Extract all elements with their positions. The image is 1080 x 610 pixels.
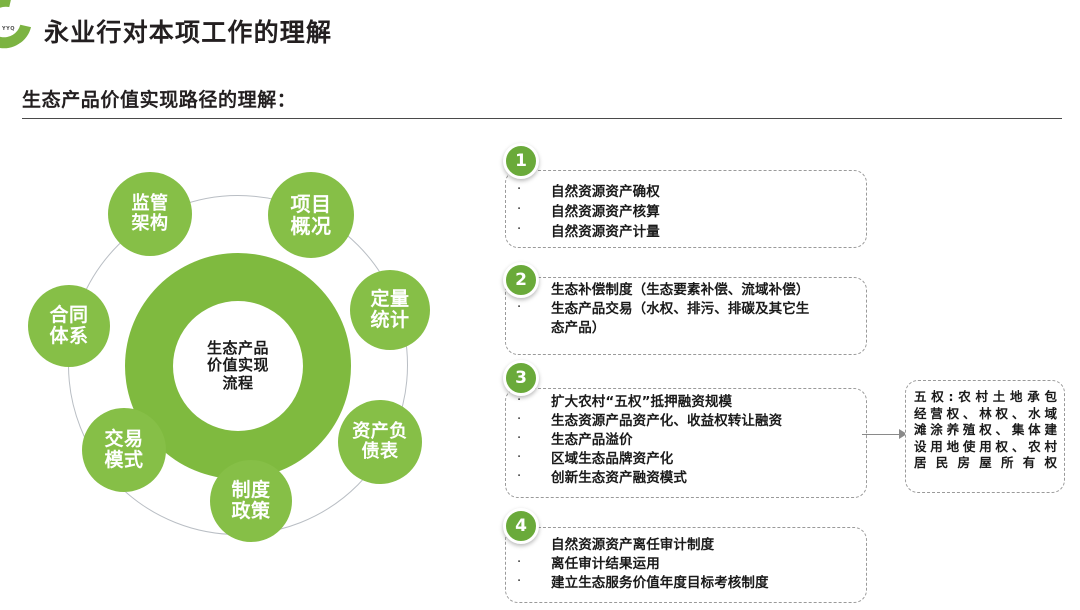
- brand-logo-subtext: YYQ: [2, 26, 15, 32]
- step-bullet-item: ·生态产品溢价: [513, 431, 859, 450]
- step-bullet-list: ·生态补偿制度（生态要素补偿、流域补偿）·生态产品交易（水权、排污、排碳及其它生…: [513, 281, 859, 338]
- step-number-badge[interactable]: 4: [503, 508, 539, 544]
- side-note-box: 五权:农村土地承包 经营权、林权、水域 滩涂养殖权、集体建 设用地使用权、农村 …: [905, 380, 1065, 493]
- step-bullet-item: ·自然资源资产确权: [513, 182, 859, 202]
- step-bullet-item: ·创新生态资产融资模式: [513, 469, 859, 488]
- step-bullet-text: 扩大农村“五权”抵押融资规模: [551, 393, 732, 412]
- bullet-dot-icon: ·: [513, 574, 551, 590]
- diagram-node[interactable]: 监管 架构: [108, 172, 192, 256]
- step-bullet-text: 自然资源资产离任审计制度: [551, 536, 714, 555]
- diagram-node[interactable]: 制度 政策: [210, 460, 292, 542]
- diagram-node[interactable]: 交易 模式: [82, 408, 166, 492]
- step-bullet-item: ·离任审计结果运用: [513, 555, 859, 574]
- step-bullet-item: ·自然资源资产核算: [513, 202, 859, 222]
- bullet-dot-icon: ·: [513, 431, 551, 447]
- bullet-dot-icon: ·: [513, 182, 551, 198]
- step-bullet-item: ·生态资源产品资产化、收益权转让融资: [513, 412, 859, 431]
- bullet-dot-icon: ·: [513, 412, 551, 428]
- page-title: 永业行对本项工作的理解: [44, 13, 332, 49]
- connector-arrow-line: [862, 434, 904, 435]
- bullet-dot-icon: ·: [513, 300, 551, 316]
- step-bullet-item: ·生态产品交易（水权、排污、排碳及其它生 态产品）: [513, 300, 859, 338]
- step-bullet-item: ·生态补偿制度（生态要素补偿、流域补偿）: [513, 281, 859, 300]
- step-number-badge[interactable]: 2: [503, 262, 539, 298]
- bullet-dot-icon: ·: [513, 555, 551, 571]
- diagram-node[interactable]: 资产负 债表: [338, 400, 422, 484]
- step-bullet-list: ·自然资源资产离任审计制度·离任审计结果运用·建立生态服务价值年度目标考核制度: [513, 536, 859, 593]
- step-bullet-text: 自然资源资产计量: [551, 222, 660, 242]
- diagram-node[interactable]: 合同 体系: [28, 285, 110, 367]
- diagram-core-label: 生态产品 价值实现 流程: [207, 340, 269, 392]
- bullet-dot-icon: ·: [513, 469, 551, 485]
- step-bullet-item: ·扩大农村“五权”抵押融资规模: [513, 393, 859, 412]
- section-title: 生态产品价值实现路径的理解：: [22, 85, 296, 112]
- step-bullet-text: 区域生态品牌资产化: [551, 450, 673, 469]
- step-bullet-text: 离任审计结果运用: [551, 555, 660, 574]
- side-note-text: 五权:农村土地承包 经营权、林权、水域 滩涂养殖权、集体建 设用地使用权、农村 …: [914, 389, 1057, 472]
- step-bullet-text: 自然资源资产核算: [551, 202, 660, 222]
- step-bullet-text: 生态资源产品资产化、收益权转让融资: [551, 412, 782, 431]
- bullet-dot-icon: ·: [513, 450, 551, 466]
- step-number-badge[interactable]: 1: [503, 143, 539, 179]
- step-bullet-list: ·扩大农村“五权”抵押融资规模·生态资源产品资产化、收益权转让融资·生态产品溢价…: [513, 393, 859, 488]
- step-bullet-item: ·自然资源资产计量: [513, 222, 859, 242]
- step-bullet-item: ·建立生态服务价值年度目标考核制度: [513, 574, 859, 593]
- diagram-node[interactable]: 项目 概况: [268, 172, 354, 258]
- bullet-dot-icon: ·: [513, 202, 551, 218]
- process-circle-diagram: 生态产品 价值实现 流程 项目 概况定量 统计资产负 债表制度 政策交易 模式合…: [20, 150, 460, 590]
- step-bullet-list: ·自然资源资产确权·自然资源资产核算·自然资源资产计量: [513, 182, 859, 242]
- step-bullet-text: 生态补偿制度（生态要素补偿、流域补偿）: [551, 281, 809, 300]
- step-number-badge[interactable]: 3: [503, 360, 539, 396]
- step-bullet-item: ·区域生态品牌资产化: [513, 450, 859, 469]
- step-bullet-text: 建立生态服务价值年度目标考核制度: [551, 574, 769, 593]
- diagram-core: 生态产品 价值实现 流程: [173, 301, 303, 431]
- step-bullet-text: 创新生态资产融资模式: [551, 469, 687, 488]
- step-bullet-text: 生态产品溢价: [551, 431, 633, 450]
- step-bullet-text: 自然资源资产确权: [551, 182, 660, 202]
- step-bullet-text: 生态产品交易（水权、排污、排碳及其它生 态产品）: [551, 300, 809, 338]
- section-divider: [22, 118, 1062, 119]
- diagram-node[interactable]: 定量 统计: [350, 270, 430, 350]
- step-bullet-item: ·自然资源资产离任审计制度: [513, 536, 859, 555]
- bullet-dot-icon: ·: [513, 222, 551, 238]
- slide-root: YYQ 永业行对本项工作的理解 生态产品价值实现路径的理解： 生态产品 价值实现…: [0, 0, 1080, 610]
